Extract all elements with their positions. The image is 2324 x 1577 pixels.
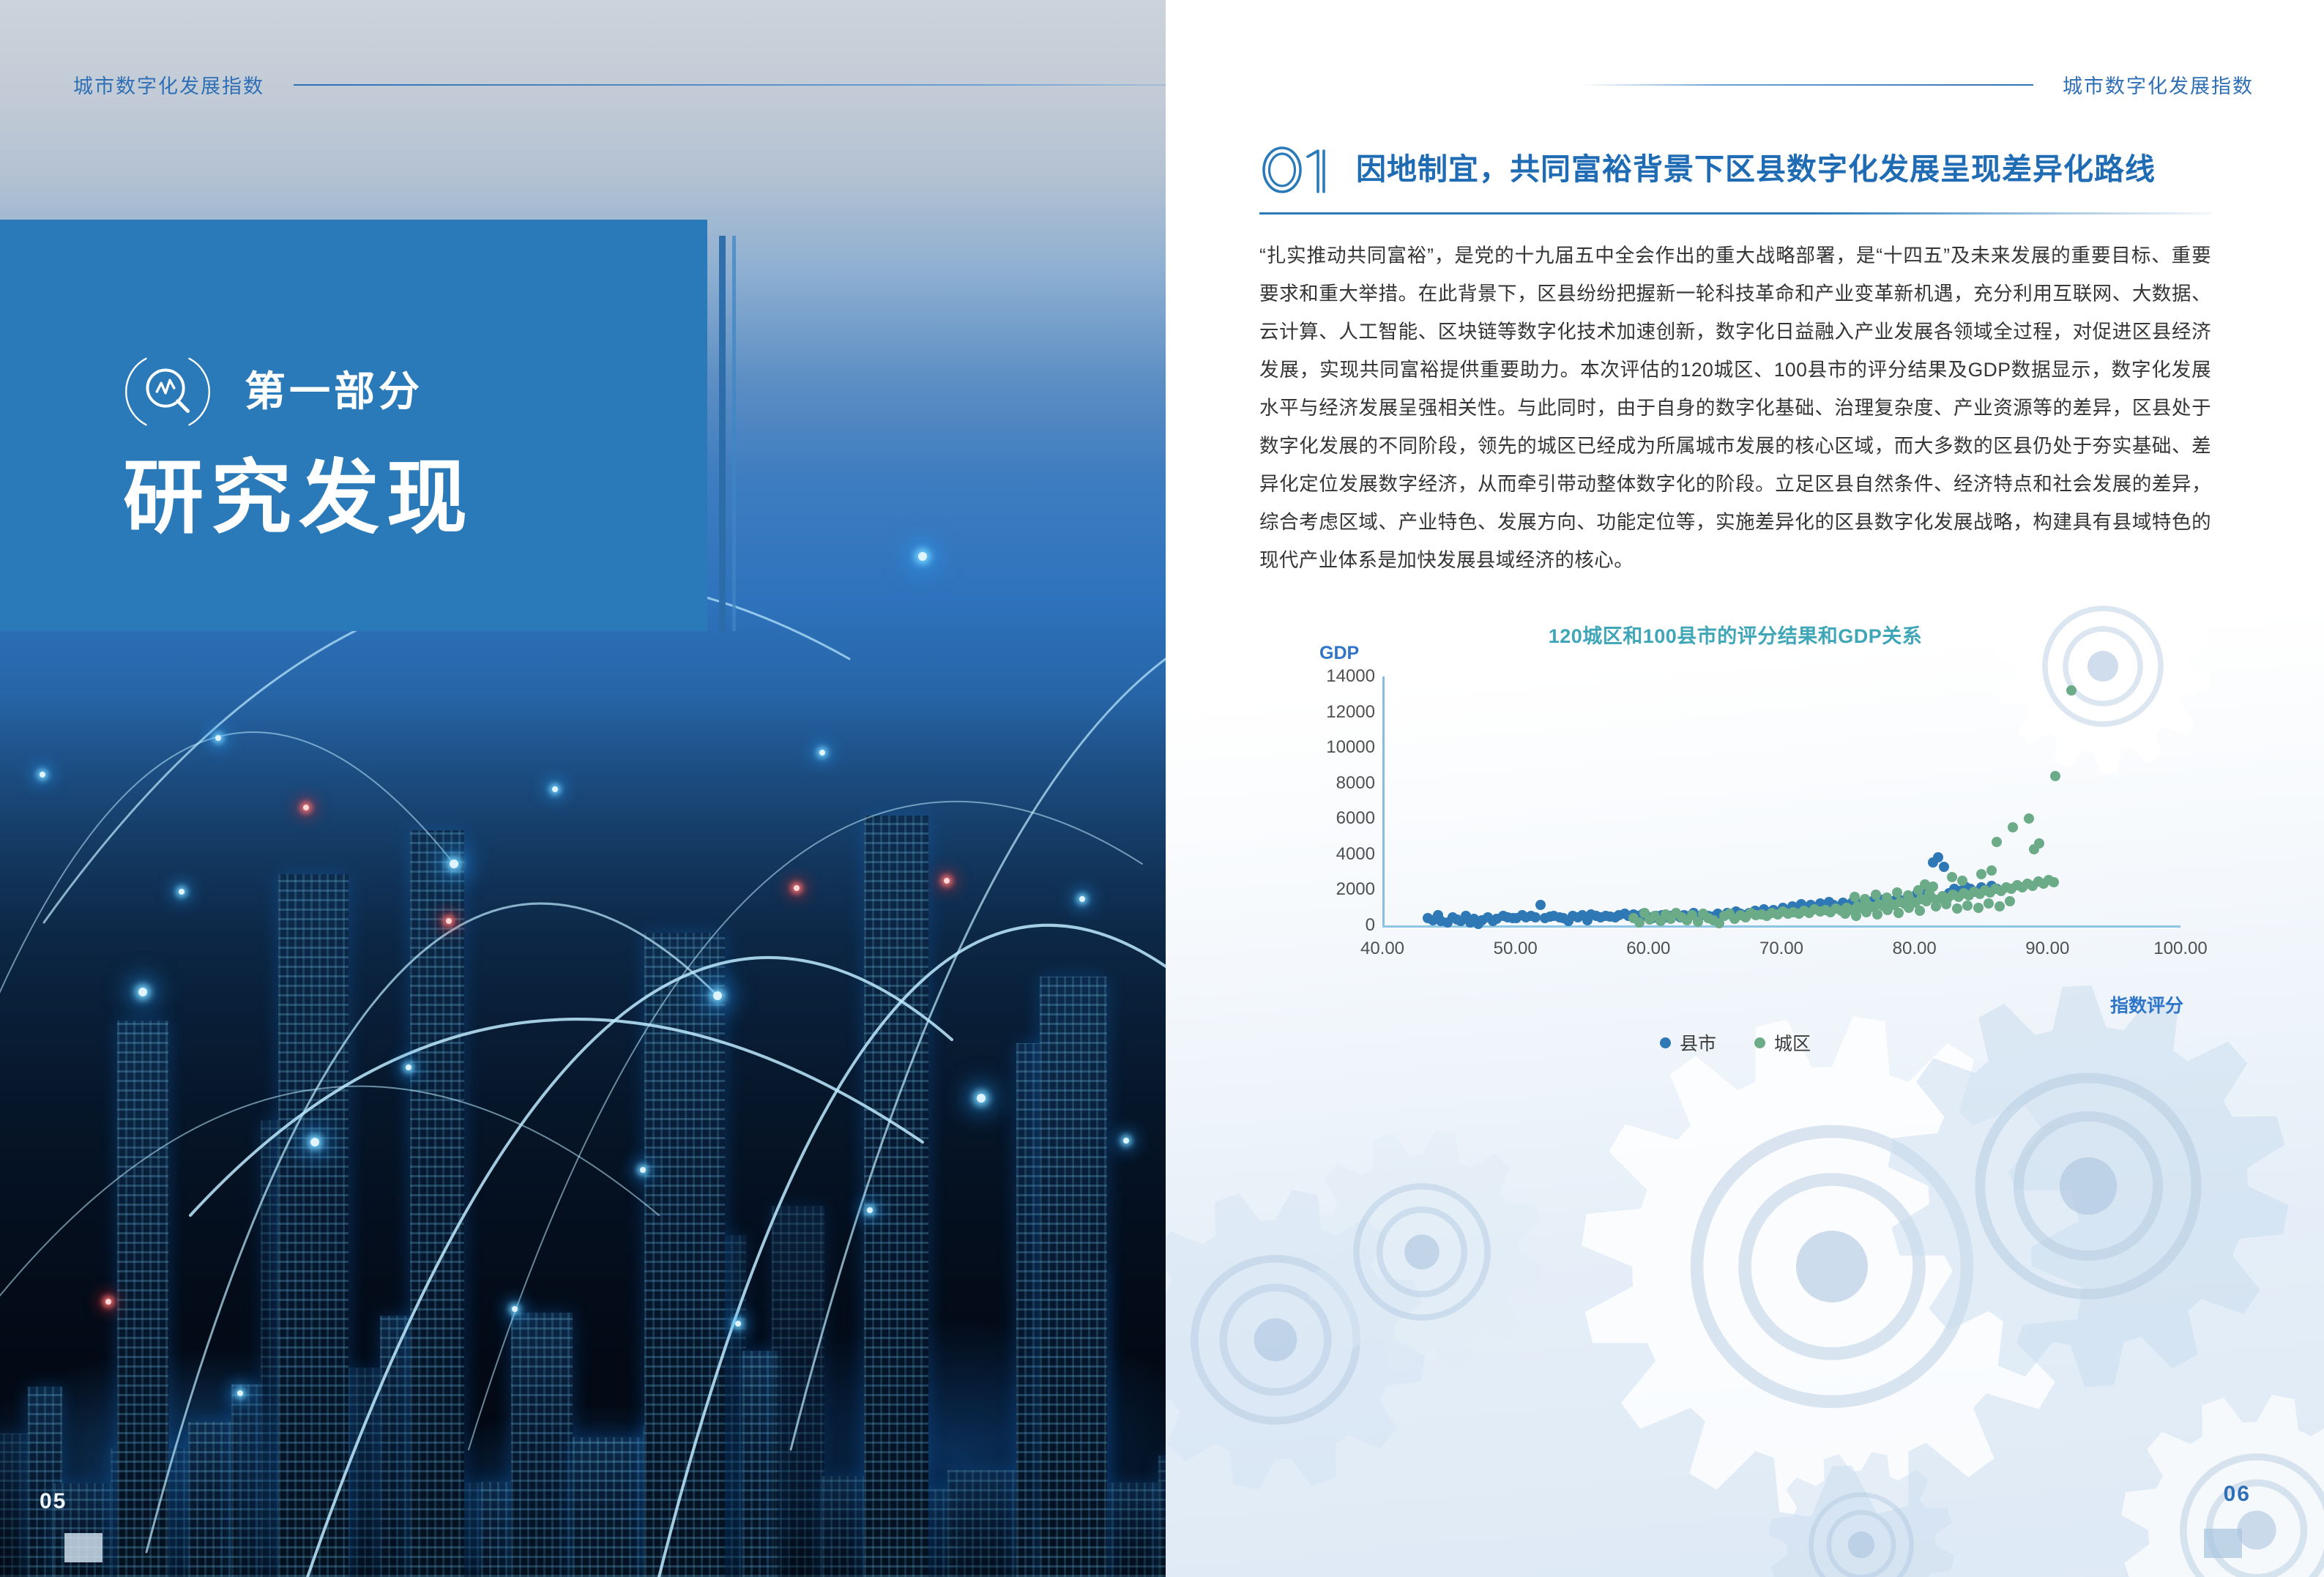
legend-label: 县市	[1680, 1029, 1716, 1056]
building	[573, 1437, 654, 1577]
left-header-title: 城市数字化发展指数	[73, 70, 264, 99]
building-tower	[864, 816, 928, 1577]
left-page: 城市数字化发展指数 第一部分 研究发现 05	[0, 0, 1166, 1577]
chart-x-tick-label: 100.00	[2153, 939, 2207, 959]
right-page: 城市数字化发展指数 因地制宜，共同富裕背景下区县数字化发展呈现差异化路线 “扎实…	[1166, 0, 2324, 1577]
gear-icon	[1297, 1127, 1546, 1376]
chart-point-district	[1941, 899, 1951, 909]
right-page-header: 城市数字化发展指数	[1579, 70, 2254, 99]
chart-point-district	[1962, 901, 1973, 911]
building-silhouettes	[0, 757, 1166, 1577]
chart-x-tick-label: 90.00	[2025, 939, 2069, 959]
building-tower	[1040, 977, 1107, 1577]
chart-point-district	[1882, 905, 1893, 915]
chart-y-tick-label: 14000	[1280, 666, 1375, 687]
card-accent-bar-1	[719, 236, 726, 631]
card-accent-bar-2	[732, 236, 736, 631]
building	[772, 1206, 824, 1577]
chart-point-district	[1931, 901, 1941, 911]
chart-y-ticks: 02000400060008000100001200014000	[1273, 676, 1375, 925]
chart-point-district	[1840, 909, 1850, 919]
building	[947, 1470, 1027, 1577]
left-header-rule	[294, 84, 1166, 86]
chart-point-district	[2049, 877, 2059, 887]
chart-point-district	[2050, 771, 2060, 781]
chart-point-district	[1992, 837, 2002, 847]
chart-point-county	[1933, 852, 1943, 862]
chart-data-points	[1382, 676, 2180, 925]
building	[0, 1434, 28, 1577]
section-body-text: “扎实推动共同富裕”，是党的十九届五中全会作出的重大战略部署，是“十四五”及未来…	[1259, 236, 2211, 579]
chart-legend-item[interactable]: 城区	[1754, 1029, 1811, 1056]
gear-icon	[1166, 1186, 1429, 1494]
gear-icon	[1766, 1450, 1956, 1577]
chart-point-district	[2034, 838, 2044, 849]
building	[481, 1482, 515, 1577]
right-header-title: 城市数字化发展指数	[2063, 70, 2254, 99]
part-big-title: 研究发现	[123, 458, 474, 539]
chart-title: 120城区和100县市的评分结果和GDP关系	[1259, 620, 2211, 649]
building	[1158, 1455, 1166, 1577]
section-underline	[1259, 212, 2211, 215]
chart-point-district	[1851, 911, 1861, 921]
chart-legend: 县市城区	[1259, 1029, 2211, 1056]
two-page-spread: 城市数字化发展指数 第一部分 研究发现 05	[0, 0, 2324, 1577]
right-page-content: 因地制宜，共同富裕背景下区县数字化发展呈现差异化路线 “扎实推动共同富裕”，是党…	[1259, 143, 2211, 1056]
building-tower	[410, 830, 464, 1577]
chart-point-district	[1634, 917, 1645, 928]
chart-point-district	[1986, 865, 1997, 876]
chart-y-tick-label: 8000	[1280, 773, 1375, 794]
chart-x-tick-label: 40.00	[1360, 939, 1404, 959]
chart-y-tick-label: 0	[1280, 915, 1375, 936]
chart-point-district	[1850, 892, 1860, 902]
chart-y-tick-label: 10000	[1280, 737, 1375, 758]
legend-swatch-icon	[1754, 1037, 1765, 1048]
chart-y-tick-label: 12000	[1280, 702, 1375, 723]
chart-point-district	[2024, 813, 2034, 824]
part-label: 第一部分	[245, 371, 423, 412]
building-tower	[278, 874, 349, 1577]
chart-point-district	[1984, 898, 1994, 909]
right-page-number-tick	[2204, 1529, 2242, 1558]
building-tower	[117, 1021, 168, 1577]
left-page-number-tick	[64, 1533, 103, 1562]
chart-x-axis-line	[1382, 925, 2180, 928]
chart-point-county	[1535, 900, 1546, 910]
right-page-number: 06	[2224, 1482, 2251, 1507]
magnifier-analytics-icon	[124, 348, 211, 435]
chart-point-district	[1893, 908, 1904, 918]
chart-point-district	[1892, 887, 1902, 898]
right-header-rule	[1579, 84, 2033, 86]
left-page-header: 城市数字化发展指数	[73, 70, 1166, 99]
chart-point-district	[2008, 822, 2018, 832]
chart-point-district	[2066, 685, 2077, 696]
chart-x-tick-label: 80.00	[1893, 939, 1937, 959]
chart-point-district	[1947, 872, 1957, 882]
chart-point-district	[1860, 894, 1870, 904]
chart-point-district	[1976, 869, 1986, 879]
chart-point-district	[1952, 903, 1962, 914]
building	[188, 1422, 238, 1577]
building-tower	[644, 933, 725, 1577]
building	[1103, 1483, 1163, 1577]
part-row: 第一部分	[124, 348, 423, 435]
chart-x-axis-label: 指数评分	[2110, 991, 2183, 1018]
chart-point-district	[1973, 903, 1984, 913]
chart-point-district	[1928, 881, 1938, 892]
chart-y-tick-label: 6000	[1280, 808, 1375, 829]
gear-icon	[1576, 1010, 2088, 1523]
chart-y-tick-label: 2000	[1280, 879, 1375, 900]
chart-point-district	[1995, 901, 2005, 911]
section-heading: 因地制宜，共同富裕背景下区县数字化发展呈现差异化路线	[1259, 143, 2211, 196]
chart-point-district	[1903, 890, 1913, 901]
legend-swatch-icon	[1660, 1037, 1671, 1048]
chart-point-district	[1871, 890, 1881, 900]
chart-x-tick-label: 60.00	[1626, 939, 1670, 959]
chart-point-district	[1882, 892, 1892, 903]
building	[511, 1313, 573, 1577]
chart-y-axis-label: GDP	[1319, 643, 1359, 664]
chart-point-district	[2005, 896, 2015, 906]
left-page-number: 05	[40, 1489, 67, 1514]
part-title-card: 第一部分 研究发现	[0, 220, 707, 631]
chart-point-district	[1957, 876, 1967, 886]
section-title: 因地制宜，共同富裕背景下区县数字化发展呈现差异化路线	[1356, 153, 2156, 186]
chart-point-district	[1904, 903, 1914, 913]
chart-point-district	[1872, 909, 1882, 920]
scatter-chart: 120城区和100县市的评分结果和GDP关系 GDP 指数评分 02000400…	[1259, 620, 2211, 1056]
section-number-01	[1259, 143, 1337, 196]
chart-x-tick-label: 70.00	[1759, 939, 1803, 959]
chart-point-county	[1939, 862, 1949, 872]
chart-x-tick-label: 50.00	[1494, 939, 1538, 959]
chart-legend-item[interactable]: 县市	[1660, 1029, 1716, 1056]
chart-plot-area: GDP 指数评分 0200040006000800010000120001400…	[1273, 676, 2180, 947]
chart-y-tick-label: 4000	[1280, 844, 1375, 865]
chart-point-district	[1861, 907, 1872, 917]
legend-label: 城区	[1774, 1029, 1811, 1056]
building	[231, 1384, 262, 1577]
chart-point-district	[1915, 906, 1925, 916]
